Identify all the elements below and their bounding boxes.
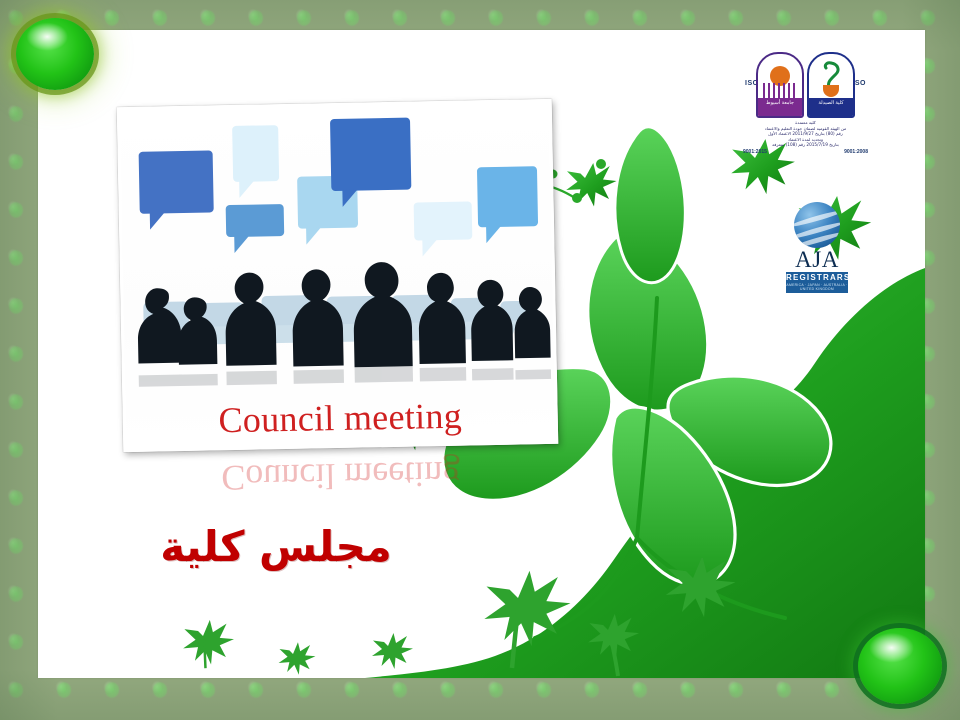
aja-registrars-logo: AJA REGISTRARS AMERICA · JAPAN · AUSTRAL… (786, 202, 848, 293)
photo-reflection-caption: Council meeting (125, 451, 556, 501)
aja-registrars-bar: REGISTRARS (786, 272, 848, 283)
speech-bubble (232, 125, 279, 182)
green-orb-bottom-right (858, 628, 942, 704)
photo-caption: Council meeting (125, 393, 555, 443)
presentation-slide: Council meeting Council meeting مجلس كلي… (0, 0, 960, 720)
pharmacy-crest-icon: كلية الصيدلة (807, 52, 855, 118)
accreditation-text: كلية معتمدة من الهيئة القومية لضمان جودة… (743, 120, 868, 148)
university-crest-icon: جامعة أسيوط (756, 52, 804, 118)
photo-reflection: Council meeting (125, 449, 556, 519)
bottom-foliage-row (38, 558, 925, 678)
aja-subtext: AMERICA · JAPAN · AUSTRALIA · UNITED KIN… (786, 283, 848, 293)
bowl-of-hygieia-icon (823, 85, 839, 97)
aja-wordmark: AJA (786, 248, 848, 272)
globe-icon (794, 202, 840, 248)
crest-left-band: جامعة أسيوط (758, 98, 802, 116)
cert-left: 9001:2015 (743, 149, 767, 155)
crest-right-band: كلية الصيدلة (809, 98, 853, 116)
slide-canvas: Council meeting Council meeting مجلس كلي… (38, 30, 925, 678)
cert-right: 9001:2008 (844, 149, 868, 155)
certification-row: 9001:2015 9001:2008 (743, 149, 868, 155)
speech-bubble (330, 118, 411, 192)
slide-title-arabic: مجلس كلية (146, 522, 406, 571)
speech-bubble (139, 150, 214, 213)
green-orb-top-left (16, 18, 94, 90)
assiut-university-logo: ISO ISO جامعة أسيوط (743, 52, 868, 155)
council-meeting-photo[interactable]: Council meeting (117, 99, 559, 452)
accreditation-line: بتاريخ 2015/7/19 رقم (108) بمعرفة (743, 142, 868, 148)
